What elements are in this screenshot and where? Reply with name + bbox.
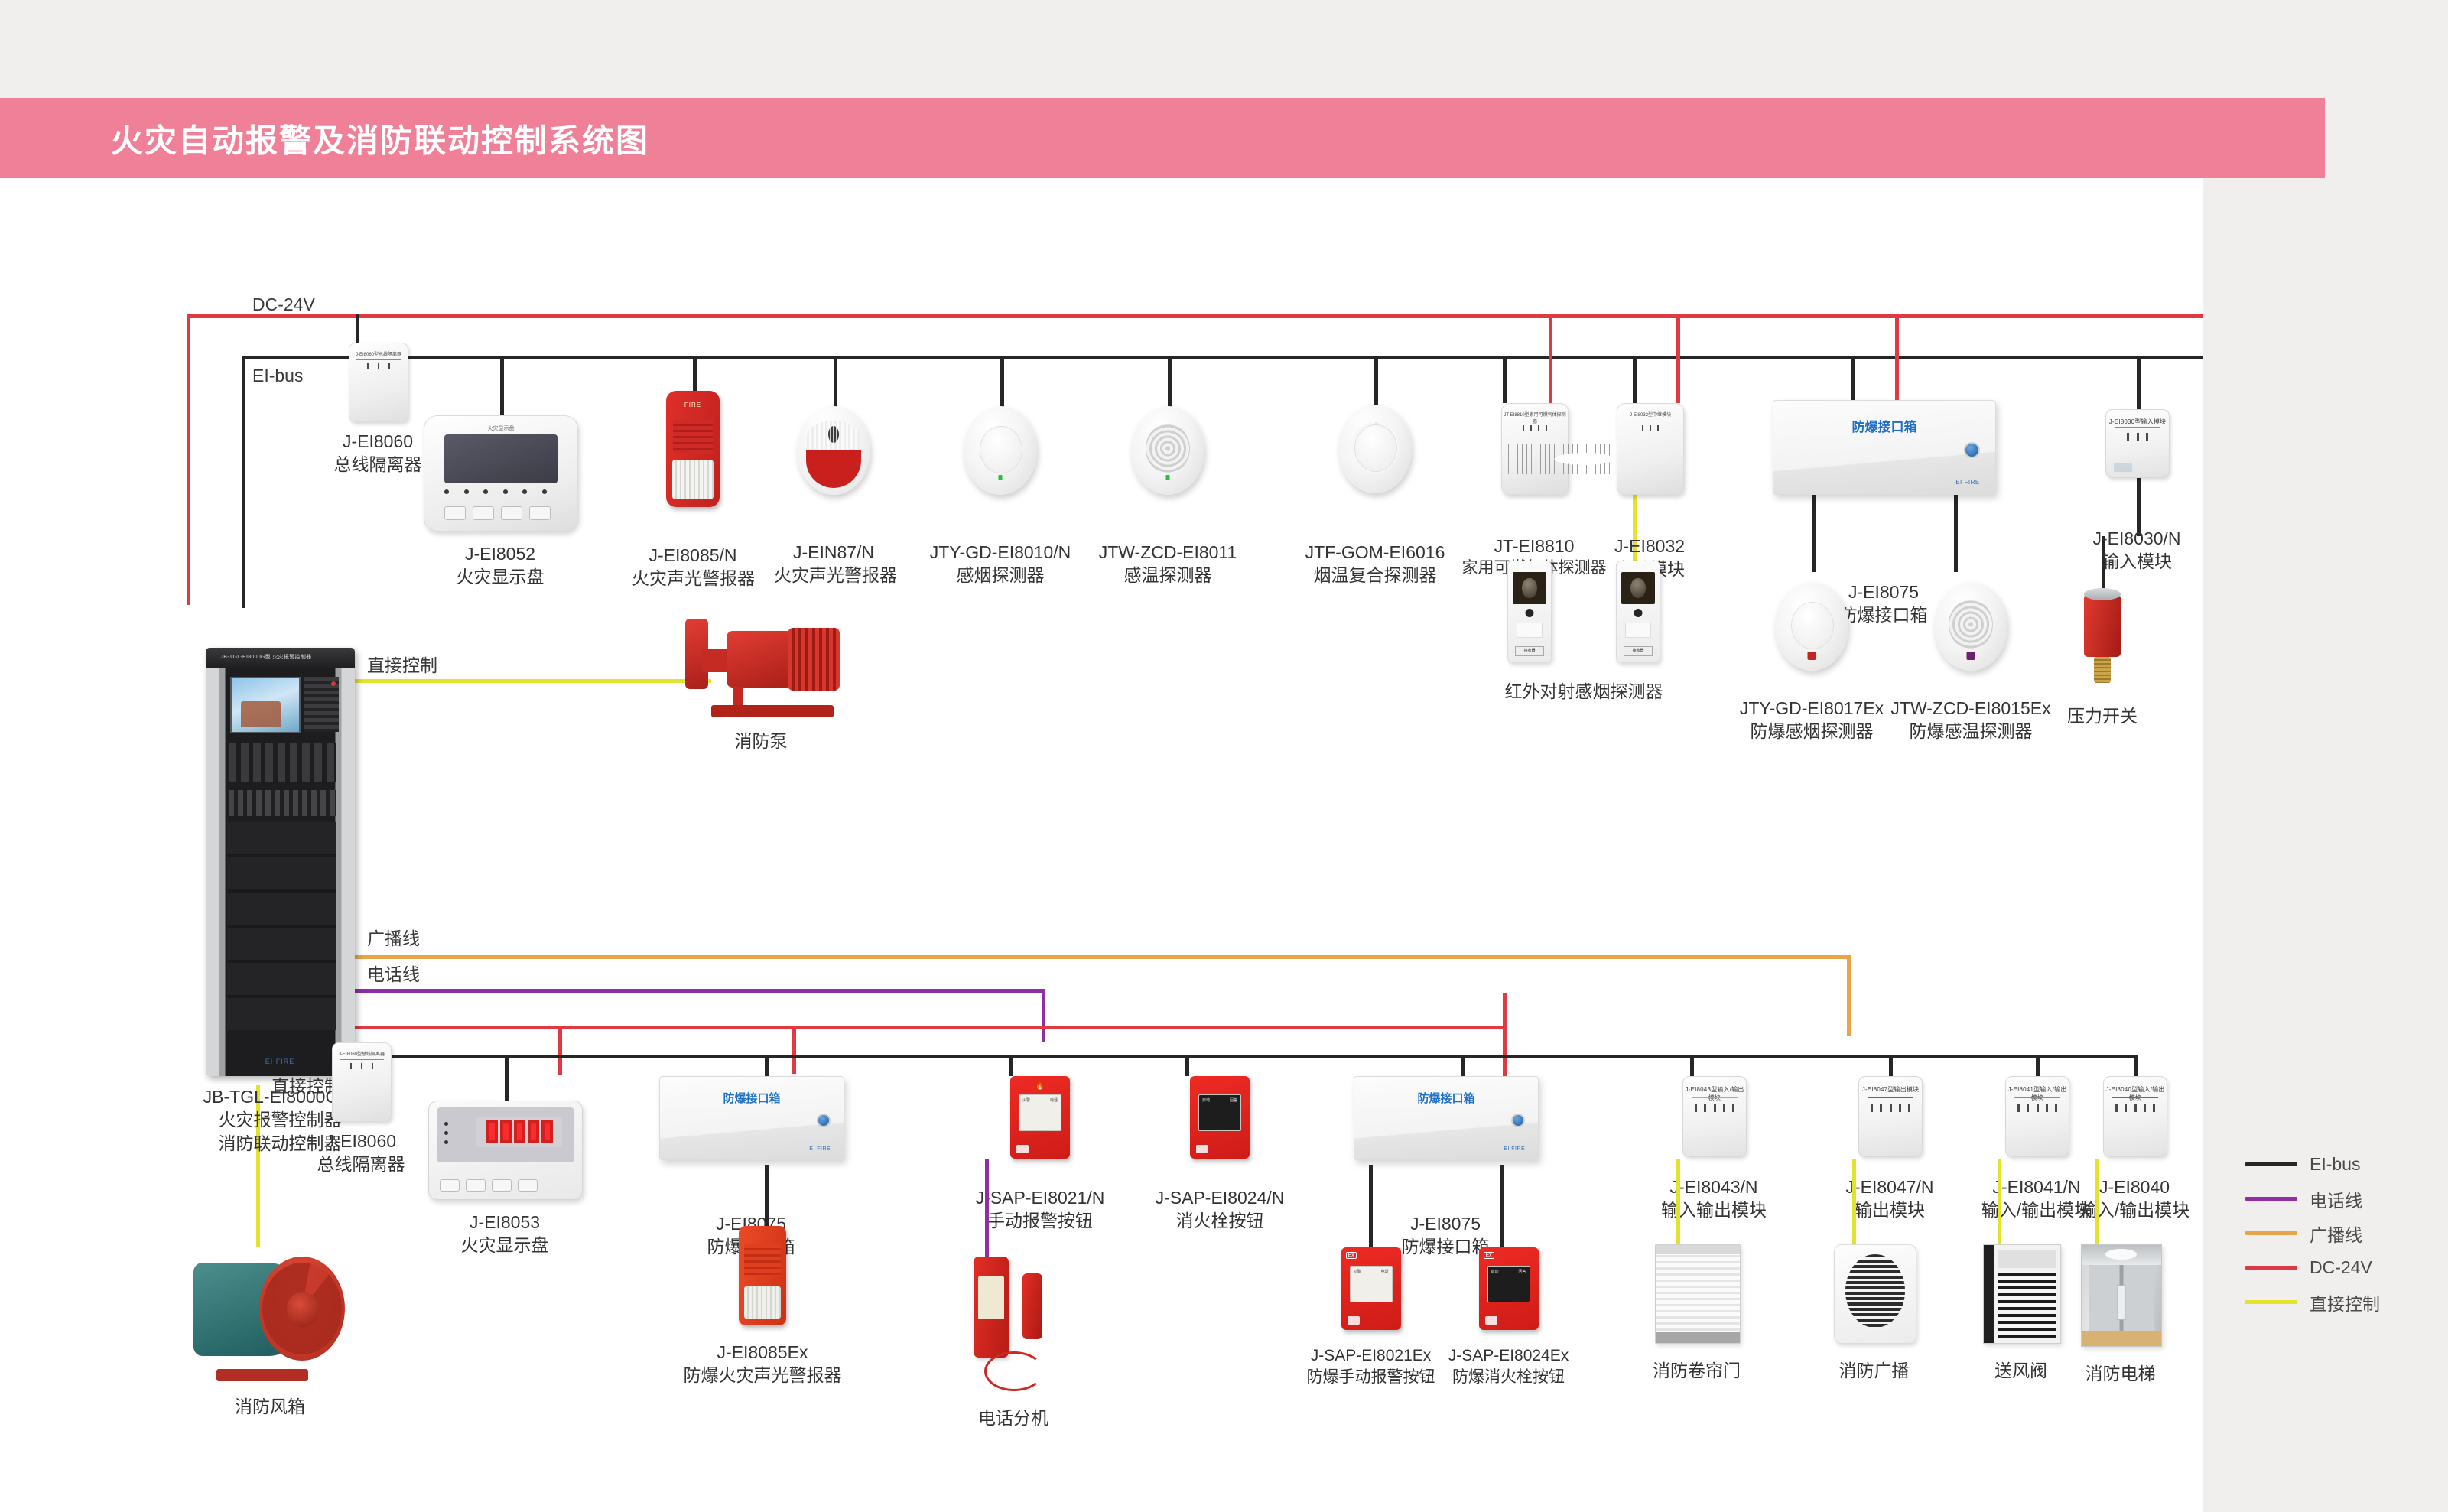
device-j-sap-ei8024ex[interactable]: Ex 启动回答 J-SAP-EI8024Ex 防爆消火栓按钮 (1438, 1247, 1579, 1387)
cabinet-face-title: JB-TGL-EI8000G型 火灾报警控制器 (221, 653, 312, 661)
device-name: 火灾声光警报器 (774, 564, 893, 587)
device-name: 输出模块 (1820, 1198, 1959, 1221)
bus-isolator-icon: J-EI8060型总线隔离器 (349, 343, 408, 422)
smoke-heat-combo-detector-icon (1338, 405, 1412, 493)
device-j-ei8085ex[interactable]: J-EI8085Ex 防爆火灾声光警报器 (659, 1226, 866, 1387)
wire-drop-ei8810-power (1549, 314, 1552, 403)
device-model: JTW-ZCD-EI8015Ex (1883, 697, 2059, 720)
wire-eibus-drop-8040 (2134, 1055, 2138, 1076)
device-model: J-EI8085/N (632, 544, 754, 567)
device-j-ei8032[interactable]: J-EI8032型中继模块 J-EI8032 中继模块 (1592, 403, 1707, 581)
wire-eibus-drop-8043 (1690, 1055, 1694, 1076)
device-name: 消防泵 (673, 730, 849, 753)
device-face-title: JT-EI8810型家用可燃气体探测器 (1502, 411, 1568, 424)
device-face-title: FIRE (666, 402, 720, 408)
device-model: J-EI8053 (428, 1211, 581, 1234)
wire-eibus-top-trunk (242, 356, 2085, 359)
device-j-ei8043n[interactable]: J-EI8043型输入/输出模块 J-EI8043/N 输入输出模块 (1644, 1076, 1783, 1222)
device-name: 火灾声光警报器 (632, 567, 754, 590)
telephone-cradle-icon (1022, 1273, 1042, 1339)
device-jty-gd-ei8010n[interactable]: JTY-GD-EI8010/N 感烟探测器 (918, 406, 1083, 587)
device-j-ei8075-bottom-right[interactable]: 防爆接口箱 EI FIRE J-EI8075 防爆接口箱 (1354, 1076, 1537, 1259)
wire-dc24v-drop-exbox1 (558, 1026, 562, 1075)
device-face-tag: 接收器 (1624, 646, 1653, 656)
device-j-ei8040[interactable]: J-EI8040型输入/输出模块 J-EI8040 输入/输出模块 (2065, 1076, 2204, 1222)
sound-light-alarm-round-icon (797, 406, 870, 495)
device-model: J-EIN87/N (774, 541, 893, 564)
input-output-module-icon: J-EI8041型输入/输出模块 (2005, 1076, 2069, 1157)
win-label-right: 电话 (1050, 1097, 1058, 1103)
device-j-ei8030n[interactable]: J-EI8030型输入模块 J-EI8030/N 输入模块 (2076, 409, 2198, 574)
device-j-ei8053[interactable]: J-EI8053 火灾显示盘 (428, 1101, 581, 1257)
fire-display-panel-icon: 火灾显示盘 (424, 415, 578, 532)
pressure-switch-icon (2078, 584, 2127, 683)
input-module-icon: J-EI8030型输入模块 (2105, 409, 2170, 478)
wire-eibus-drop-8024 (1185, 1055, 1189, 1076)
hydrant-button-icon: 启动回答 (1190, 1076, 1250, 1159)
telephone-handset-icon (974, 1257, 1009, 1358)
device-j-ein87n[interactable]: J-EIN87/N 火灾声光警报器 (774, 406, 893, 587)
wire-drop-ei8030 (2137, 356, 2141, 415)
legend-swatch-telephone (2245, 1197, 2297, 1201)
wire-eibus-drop-8053 (505, 1055, 509, 1101)
device-model: J-EI8040 (2065, 1175, 2204, 1198)
device-name: 防爆感温探测器 (1883, 720, 2059, 743)
device-name: 消防广播 (1811, 1359, 1937, 1382)
manual-call-point-icon: 🔥 火警电话 (1010, 1076, 1070, 1159)
device-face-title: J-EI8060型总线隔离器 (333, 1050, 391, 1057)
wire-drop-ei8810-bus (1503, 356, 1507, 403)
device-infrared-beam-detector[interactable]: 接收器 接收器 红外对射感烟探测器 (1458, 561, 1710, 703)
device-name: 消火栓按钮 (1139, 1209, 1300, 1232)
device-face-title: 火灾显示盘 (424, 424, 577, 432)
win-label-left: 启动 (1491, 1269, 1499, 1274)
device-name: 输入输出模块 (1644, 1198, 1783, 1221)
device-name: 消防风箱 (182, 1395, 358, 1418)
device-face-title: J-EI8040型输入/输出模块 (2104, 1085, 2167, 1102)
device-name: 防爆消火栓按钮 (1438, 1367, 1579, 1388)
device-face-title: J-EI8030型输入模块 (2106, 418, 2169, 426)
device-face-title: J-EI8043型输入/输出模块 (1683, 1085, 1746, 1102)
wire-eibus-drop-8041 (2036, 1055, 2040, 1076)
win-label-left: 启动 (1202, 1097, 1210, 1103)
device-name: 防爆感烟探测器 (1724, 720, 1900, 743)
explosion-proof-box-icon: 防爆接口箱 EI FIRE (659, 1076, 844, 1160)
device-face-title: J-EI8041型输入/输出模块 (2006, 1085, 2069, 1102)
wire-dc24v-drop-ei8075b (1503, 993, 1507, 1076)
device-model: J-EI8043/N (1644, 1175, 1783, 1198)
device-name: 电话分机 (937, 1406, 1090, 1429)
fire-display-panel-led-icon (428, 1101, 583, 1200)
device-fire-roller-shutter[interactable]: 消防卷帘门 (1634, 1244, 1760, 1382)
wire-eibus-drop-exbox2 (1461, 1055, 1465, 1076)
wire-drop-panel8052 (500, 356, 504, 424)
wire-dc24v-bottom-branch (792, 1026, 1507, 1029)
wire-dc24v-controller-drop (187, 314, 190, 605)
bus-isolator-icon: J-EI8060型总线隔离器 (332, 1042, 392, 1122)
legend-item-direct-control: 直接控制 (2245, 1285, 2437, 1319)
wire-label-eibus: EI-bus (252, 366, 303, 386)
wire-eibus-drop-8021 (1009, 1055, 1013, 1076)
device-model: J-EI8030/N (2076, 527, 2198, 550)
device-fire-elevator[interactable]: 消防电梯 (2057, 1244, 2183, 1385)
device-name: 压力开关 (2053, 704, 2152, 727)
broadcast-speaker-icon (1834, 1244, 1916, 1344)
device-model: JTW-ZCD-EI8011 (1087, 541, 1248, 564)
device-j-ei8047n[interactable]: J-EI8047型输出模块 J-EI8047/N 输出模块 (1820, 1076, 1959, 1222)
ex-manual-call-point-icon: Ex 火警电话 (1341, 1247, 1401, 1330)
device-model: J-EI8060 (300, 1130, 422, 1153)
device-name: 感烟探测器 (918, 564, 1083, 587)
legend-label-dc24v: DC-24V (2310, 1257, 2372, 1278)
ex-heat-detector-icon (1934, 582, 2007, 671)
device-face-title: 防爆接口箱 (1773, 416, 1995, 435)
wire-telephone-to-handset (985, 1159, 989, 1258)
legend-label-telephone: 电话线 (2310, 1186, 2362, 1212)
device-name: 消防卷帘门 (1634, 1359, 1760, 1382)
wire-drop-ei8075-power (1895, 314, 1899, 400)
device-model: J-EI8052 (424, 542, 577, 565)
device-model: J-EI8085Ex (659, 1341, 866, 1364)
legend-swatch-eibus (2245, 1162, 2297, 1166)
wire-dc24v-top-trunk (187, 314, 2221, 318)
device-model: J-SAP-EI8024/N (1139, 1186, 1300, 1209)
device-name: 总线隔离器 (300, 1153, 422, 1175)
smoke-detector-icon (964, 406, 1037, 495)
wire-eibus-bottom-trunk (298, 1055, 2134, 1058)
diagram-canvas: DC-24V EI-bus J-EI8060型总线隔离器 J-EI8060 总线… (0, 178, 2203, 1512)
wire-eibus-drop-8047 (1889, 1055, 1893, 1076)
explosion-proof-box-icon: 防爆接口箱 EI FIRE (1773, 400, 1996, 495)
device-name: 输入模块 (2076, 550, 2198, 573)
device-name: 防爆火灾声光警报器 (659, 1364, 866, 1387)
legend-item-dc24v: DC-24V (2245, 1250, 2437, 1285)
ex-hydrant-button-icon: Ex 启动回答 (1479, 1247, 1539, 1330)
win-label-right: 回答 (1518, 1269, 1526, 1274)
device-jty-gd-ei8017ex[interactable]: JTY-GD-EI8017Ex 防爆感烟探测器 (1724, 582, 1900, 743)
wire-drop-ei8032-power (1676, 314, 1680, 403)
wire-drop-ei8075-bus (1851, 356, 1855, 400)
device-model: JT-EI8810 (1458, 535, 1611, 558)
wire-telephone-trunk (298, 989, 1045, 993)
device-name: 消防电梯 (2057, 1362, 2183, 1385)
legend-label-eibus: EI-bus (2310, 1154, 2360, 1175)
device-name: 输入/输出模块 (2065, 1198, 2204, 1221)
wire-exbox1-out (765, 1165, 769, 1226)
legend-swatch-broadcast (2245, 1231, 2297, 1235)
device-name: 烟温复合探测器 (1292, 564, 1458, 587)
output-module-icon: J-EI8047型输出模块 (1858, 1076, 1923, 1157)
device-face-title: J-EI8032型中继模块 (1617, 411, 1683, 418)
device-model: J-SAP-EI8024Ex (1438, 1345, 1579, 1367)
device-j-ei8085n[interactable]: FIRE J-EI8085/N 火灾声光警报器 (632, 391, 754, 590)
wire-label-dc24v: DC-24V (252, 294, 315, 315)
device-name: 火灾显示盘 (428, 1234, 581, 1257)
device-face-title: 防爆接口箱 (660, 1090, 844, 1106)
sound-light-alarm-icon: FIRE (666, 391, 720, 507)
device-model: J-SAP-EI8021Ex (1300, 1345, 1442, 1367)
fire-fan-icon (193, 1247, 346, 1381)
page-title: 火灾自动报警及消防联动控制系统图 (111, 115, 649, 161)
device-face-title: J-EI8060型总线隔离器 (349, 350, 408, 357)
device-model: J-EI8032 (1592, 535, 1707, 558)
device-model: J-EI8060 (317, 430, 439, 453)
wire-drop-ei8032-bus (1633, 356, 1637, 403)
device-jtw-zcd-ei8011[interactable]: JTW-ZCD-EI8011 感温探测器 (1087, 406, 1248, 587)
ex-sound-light-alarm-icon (739, 1226, 786, 1325)
legend-swatch-dc24v (2245, 1266, 2297, 1270)
device-jtw-zcd-ei8015ex[interactable]: JTW-ZCD-EI8015Ex 防爆感温探测器 (1883, 582, 2059, 743)
page-banner: 火灾自动报警及消防联动控制系统图 (0, 98, 2325, 178)
legend-label-direct-control: 直接控制 (2310, 1289, 2380, 1315)
device-model: JTY-GD-EI8010/N (918, 541, 1083, 564)
wire-broadcast-drop-8047 (1847, 955, 1851, 1036)
legend: EI-bus 电话线 广播线 DC-24V 直接控制 (2245, 1147, 2437, 1319)
device-j-sap-ei8024n[interactable]: 启动回答 J-SAP-EI8024/N 消火栓按钮 (1139, 1076, 1300, 1233)
device-name: 火灾显示盘 (424, 565, 577, 588)
win-label-right: 电话 (1380, 1269, 1388, 1274)
device-jt-ei8810[interactable]: JT-EI8810型家用可燃气体探测器 JT-EI8810 家用可燃气体探测器 (1458, 403, 1611, 579)
device-face-title: J-EI8047型输出模块 (1859, 1085, 1922, 1094)
device-j-sap-ei8021n[interactable]: 🔥 火警电话 J-SAP-EI8021/N 手动报警按钮 (960, 1076, 1120, 1233)
brand-mark: EI FIRE (1504, 1146, 1525, 1152)
device-fire-pump[interactable]: 消防泵 (673, 614, 849, 753)
heat-detector-icon (1131, 406, 1204, 495)
device-jtf-gom-ei6016[interactable]: JTF-GOM-EI6016 烟温复合探测器 (1292, 405, 1458, 587)
device-name: 防爆手动报警按钮 (1300, 1367, 1442, 1388)
wire-dc24v-drop-callpoint (792, 1026, 796, 1074)
win-label-left: 火警 (1354, 1269, 1361, 1274)
device-name: 总线隔离器 (317, 453, 439, 476)
win-label-left: 火警 (1022, 1097, 1030, 1103)
legend-item-telephone: 电话线 (2245, 1182, 2437, 1216)
telephone-cord (984, 1351, 1044, 1391)
device-model: J-EI8075 (1354, 1212, 1537, 1235)
device-j-ei8052[interactable]: 火灾显示盘 J-EI8052 火灾显示盘 (424, 415, 577, 589)
input-output-module-icon: J-EI8043型输入/输出模块 (1682, 1076, 1747, 1157)
device-name: 感温探测器 (1087, 564, 1248, 587)
explosion-proof-box-icon: 防爆接口箱 EI FIRE (1354, 1076, 1539, 1160)
beam-detector-transmitter-icon: 接收器 (1616, 561, 1660, 663)
device-face-tag: 接收器 (1515, 646, 1544, 656)
device-face-title: 防爆接口箱 (1354, 1090, 1538, 1106)
legend-label-broadcast: 广播线 (2310, 1221, 2362, 1247)
wire-eibus-controller-drop (242, 356, 245, 608)
relay-module-icon: J-EI8032型中继模块 (1617, 403, 1684, 495)
device-j-sap-ei8021ex[interactable]: Ex 火警电话 J-SAP-EI8021Ex 防爆手动报警按钮 (1300, 1247, 1442, 1387)
device-name: 手动报警按钮 (960, 1209, 1120, 1232)
wire-exbox2-out-left (1369, 1165, 1373, 1260)
device-model: JTY-GD-EI8017Ex (1724, 697, 1900, 720)
wire-eibus-drop-exbox1 (765, 1055, 769, 1076)
wire-broadcast-trunk (298, 955, 1851, 959)
device-j-ei8060-top[interactable]: J-EI8060型总线隔离器 J-EI8060 总线隔离器 (317, 343, 439, 476)
win-label-right: 回答 (1230, 1097, 1237, 1103)
device-model: J-EI8047/N (1820, 1175, 1959, 1198)
device-fire-broadcast-speaker[interactable]: 消防广播 (1811, 1244, 1937, 1382)
brand-mark: EI FIRE (809, 1146, 831, 1152)
input-output-module-icon: J-EI8040型输入/输出模块 (2103, 1076, 2167, 1157)
device-model: JTF-GOM-EI6016 (1292, 541, 1458, 564)
legend-item-broadcast: 广播线 (2245, 1216, 2437, 1250)
beam-detector-receiver-icon: 接收器 (1507, 561, 1552, 663)
device-telephone-extension[interactable]: 电话分机 (937, 1257, 1090, 1429)
device-model: J-SAP-EI8021/N (960, 1186, 1120, 1209)
brand-mark: EI FIRE (1955, 479, 1980, 486)
fire-elevator-icon (2081, 1244, 2162, 1347)
device-name: 红外对射感烟探测器 (1458, 680, 1710, 703)
fire-pump-icon (679, 614, 844, 717)
roller-shutter-door-icon (1655, 1244, 1741, 1344)
device-pressure-switch[interactable]: 压力开关 (2053, 584, 2152, 727)
gas-detector-icon: JT-EI8810型家用可燃气体探测器 (1501, 403, 1569, 495)
ex-smoke-detector-icon (1775, 582, 1848, 671)
wire-telephone-drop (1042, 989, 1045, 1042)
fire-alarm-control-cabinet-icon: JB-TGL-EI8000G型 火灾报警控制器 EI FIRE (206, 648, 355, 1076)
device-fire-fan[interactable]: 消防风箱 (182, 1247, 358, 1418)
legend-swatch-direct-control (2245, 1300, 2297, 1304)
legend-item-eibus: EI-bus (2245, 1147, 2437, 1182)
air-supply-valve-icon (1983, 1244, 2061, 1344)
wire-exbox2-out-right (1500, 1165, 1504, 1260)
device-j-ei8060-bottom[interactable]: J-EI8060型总线隔离器 J-EI8060 总线隔离器 (300, 1042, 422, 1176)
